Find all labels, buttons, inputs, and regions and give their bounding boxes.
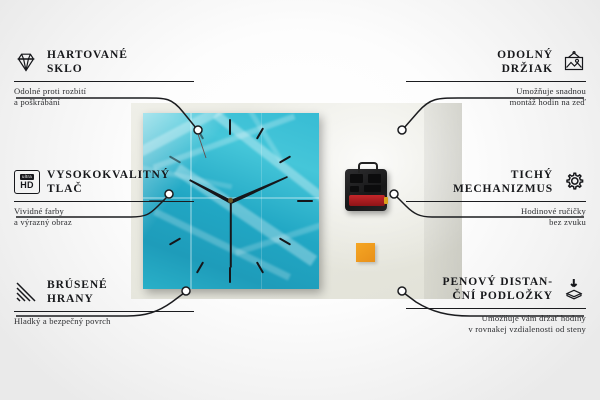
feature-title-line2: DRŽIAK [502, 63, 553, 75]
gear-icon [562, 170, 586, 194]
feature-divider [14, 201, 194, 202]
feature-heading: PENOVÝ DISTAN-ČNÍ PODLOŽKY [406, 275, 586, 303]
infographic-canvas: HARTOVANÉSKLO Odolné proti rozbitía pošk… [0, 0, 600, 400]
feature-divider [14, 311, 194, 312]
clock-tick [229, 267, 231, 283]
feature-title-line2: ČNÍ PODLOŽKY [452, 290, 553, 302]
clock-center-pin [228, 198, 233, 203]
battery-positive-tip [384, 197, 388, 204]
feature-title-line2: TLAČ [47, 183, 83, 195]
feature-divider [406, 81, 586, 82]
feature-sub-line1: Hladký a bezpečný povrch [14, 316, 111, 326]
clock-minute-hand [230, 175, 288, 204]
diamond-icon [14, 50, 38, 74]
feature-subtitle: Vividné farbya výrazný obraz [14, 206, 194, 228]
clock-mechanism [345, 169, 387, 211]
feature-title-line2: HRANY [47, 293, 94, 305]
feature-divider [406, 308, 586, 309]
feature-high-quality-print: ultra HD VYSOKOKVALITNÝTLAČ Vividné farb… [14, 168, 194, 228]
feature-heading: ultra HD VYSOKOKVALITNÝTLAČ [14, 168, 194, 196]
feature-sub-line1: Odolné proti rozbití [14, 86, 86, 96]
feature-title: VYSOKOKVALITNÝTLAČ [47, 168, 170, 196]
clock-second-hand [230, 202, 232, 268]
ground-edges-icon [14, 280, 38, 304]
feature-subtitle: Umožňuje vám držať hodinyv rovnakej vzdi… [406, 313, 586, 335]
feature-foam-spacers: PENOVÝ DISTAN-ČNÍ PODLOŽKY Umožňuje vám … [406, 275, 586, 335]
feature-durable-holder: ODOLNÝDRŽIAK Umožňuje snadnoumontáž hodi… [406, 48, 586, 108]
feature-title: PENOVÝ DISTAN-ČNÍ PODLOŽKY [443, 275, 553, 303]
clock-tick [196, 127, 204, 139]
feature-title: ODOLNÝDRŽIAK [497, 48, 553, 76]
feature-heading: BRÚSENÉHRANY [14, 278, 194, 306]
feature-sub-line2: v rovnakej vzdialenosti od steny [468, 324, 586, 334]
feature-title-line2: MECHANIZMUS [453, 183, 553, 195]
mechanism-slot [350, 174, 363, 183]
feature-subtitle: Hladký a bezpečný povrch [14, 316, 194, 327]
feature-sub-line1: Hodinové ručičky [521, 206, 586, 216]
ultra-hd-box: ultra HD [14, 170, 40, 194]
feature-sub-line2: a poškrábání [14, 97, 60, 107]
feature-title: TICHÝMECHANIZMUS [453, 168, 553, 196]
feature-sub-line1: Vividné farby [14, 206, 64, 216]
clock-tick [169, 237, 181, 245]
feature-heading: HARTOVANÉSKLO [14, 48, 194, 76]
feature-tempered-glass: HARTOVANÉSKLO Odolné proti rozbitía pošk… [14, 48, 194, 108]
feature-title: BRÚSENÉHRANY [47, 278, 108, 306]
clock-tick [229, 119, 231, 135]
wall-frame-icon [562, 50, 586, 74]
feature-title-line1: TICHÝ [511, 169, 553, 181]
feature-heading: ODOLNÝDRŽIAK [406, 48, 586, 76]
feature-sub-line2: bez zvuku [549, 217, 586, 227]
feature-sub-line1: Umožňuje vám držať hodiny [482, 313, 586, 323]
feature-title-line1: PENOVÝ DISTAN- [443, 276, 553, 288]
feature-title-line1: HARTOVANÉ [47, 49, 128, 61]
feature-sub-line2: montáž hodin na zeď [510, 97, 586, 107]
feature-subtitle: Umožňuje snadnoumontáž hodin na zeď [406, 86, 586, 108]
hd-label: HD [20, 181, 34, 190]
feature-title: HARTOVANÉSKLO [47, 48, 128, 76]
clock-tick [196, 261, 204, 273]
mechanism-battery [349, 195, 385, 206]
feature-subtitle: Odolné proti rozbitía poškrábání [14, 86, 194, 108]
ultra-label: ultra [20, 174, 34, 179]
feature-sub-line1: Umožňuje snadnou [516, 86, 586, 96]
feature-sub-line2: a výrazný obraz [14, 217, 72, 227]
ultra-hd-icon: ultra HD [14, 170, 38, 194]
mechanism-slot [364, 185, 381, 192]
feature-title-line1: VYSOKOKVALITNÝ [47, 169, 170, 181]
clock-tick [297, 200, 313, 202]
glass-reflection-line [261, 113, 262, 289]
feature-heading: TICHÝMECHANIZMUS [406, 168, 586, 196]
feature-title-line2: SKLO [47, 63, 83, 75]
feature-divider [14, 81, 194, 82]
feature-title-line1: ODOLNÝ [497, 49, 553, 61]
feature-title-line1: BRÚSENÉ [47, 279, 108, 291]
mechanism-slot [350, 186, 359, 192]
feature-silent-mechanism: TICHÝMECHANIZMUS Hodinové ručičkybez zvu… [406, 168, 586, 228]
feature-subtitle: Hodinové ručičkybez zvuku [406, 206, 586, 228]
foam-pad-arrow-icon [562, 277, 586, 301]
foam-spacer-pad [356, 243, 375, 262]
feature-ground-edges: BRÚSENÉHRANY Hladký a bezpečný povrch [14, 278, 194, 327]
mechanism-slot [368, 174, 381, 183]
feature-divider [406, 201, 586, 202]
mechanism-hook-icon [358, 162, 378, 173]
